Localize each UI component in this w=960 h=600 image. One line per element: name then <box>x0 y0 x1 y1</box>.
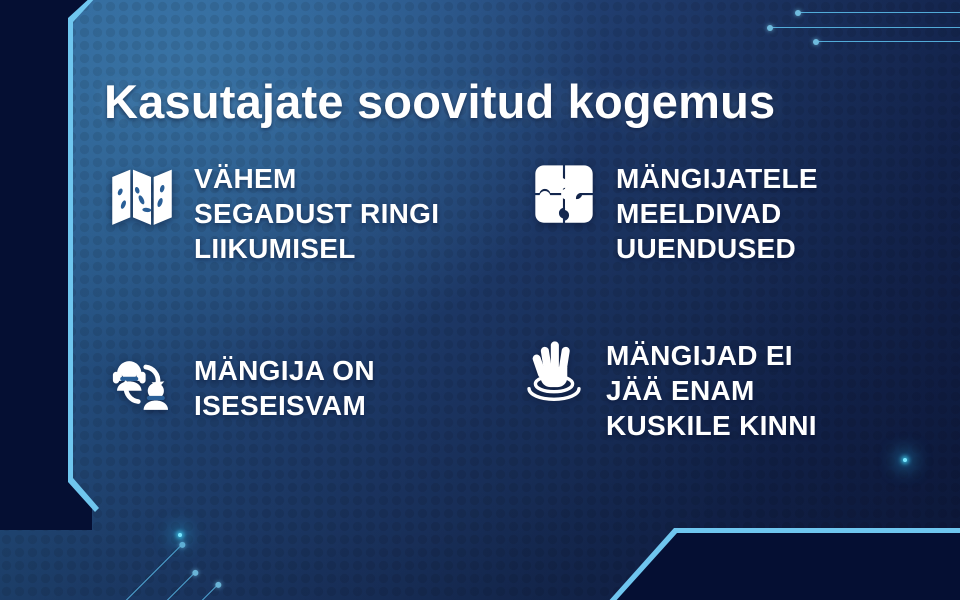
feature-label: MÄNGIJATELE MEELDIVAD UUENDUSED <box>616 160 818 266</box>
feature-item-not-stuck: MÄNGIJAD EI JÄÄ ENAM KUSKILE KINNI <box>520 335 817 443</box>
deco-line-top-1 <box>798 12 960 13</box>
feature-label: MÄNGIJA ON ISESEISVAM <box>194 350 375 423</box>
slide-canvas: Kasutajate soovitud kogemus VÄHEM SEGADU… <box>0 0 960 600</box>
deco-line-top-3 <box>816 41 960 42</box>
sinking-hand-icon <box>520 335 588 403</box>
folded-map-icon <box>108 160 176 228</box>
feature-item-player-independent: MÄNGIJA ON ISESEISVAM <box>108 350 375 423</box>
page-title: Kasutajate soovitud kogemus <box>104 74 775 129</box>
feature-label: MÄNGIJAD EI JÄÄ ENAM KUSKILE KINNI <box>606 335 817 443</box>
feature-item-players-like-updates: MÄNGIJATELE MEELDIVAD UUENDUSED <box>530 160 818 266</box>
feature-label: VÄHEM SEGADUST RINGI LIIKUMISEL <box>194 160 439 266</box>
support-handoff-icon <box>108 350 176 418</box>
deco-line-top-2 <box>770 27 960 28</box>
puzzle-pieces-icon <box>530 160 598 228</box>
glow-dot-left <box>178 533 182 537</box>
feature-item-less-confusion: VÄHEM SEGADUST RINGI LIIKUMISEL <box>108 160 439 266</box>
glow-dot-right <box>903 458 907 462</box>
